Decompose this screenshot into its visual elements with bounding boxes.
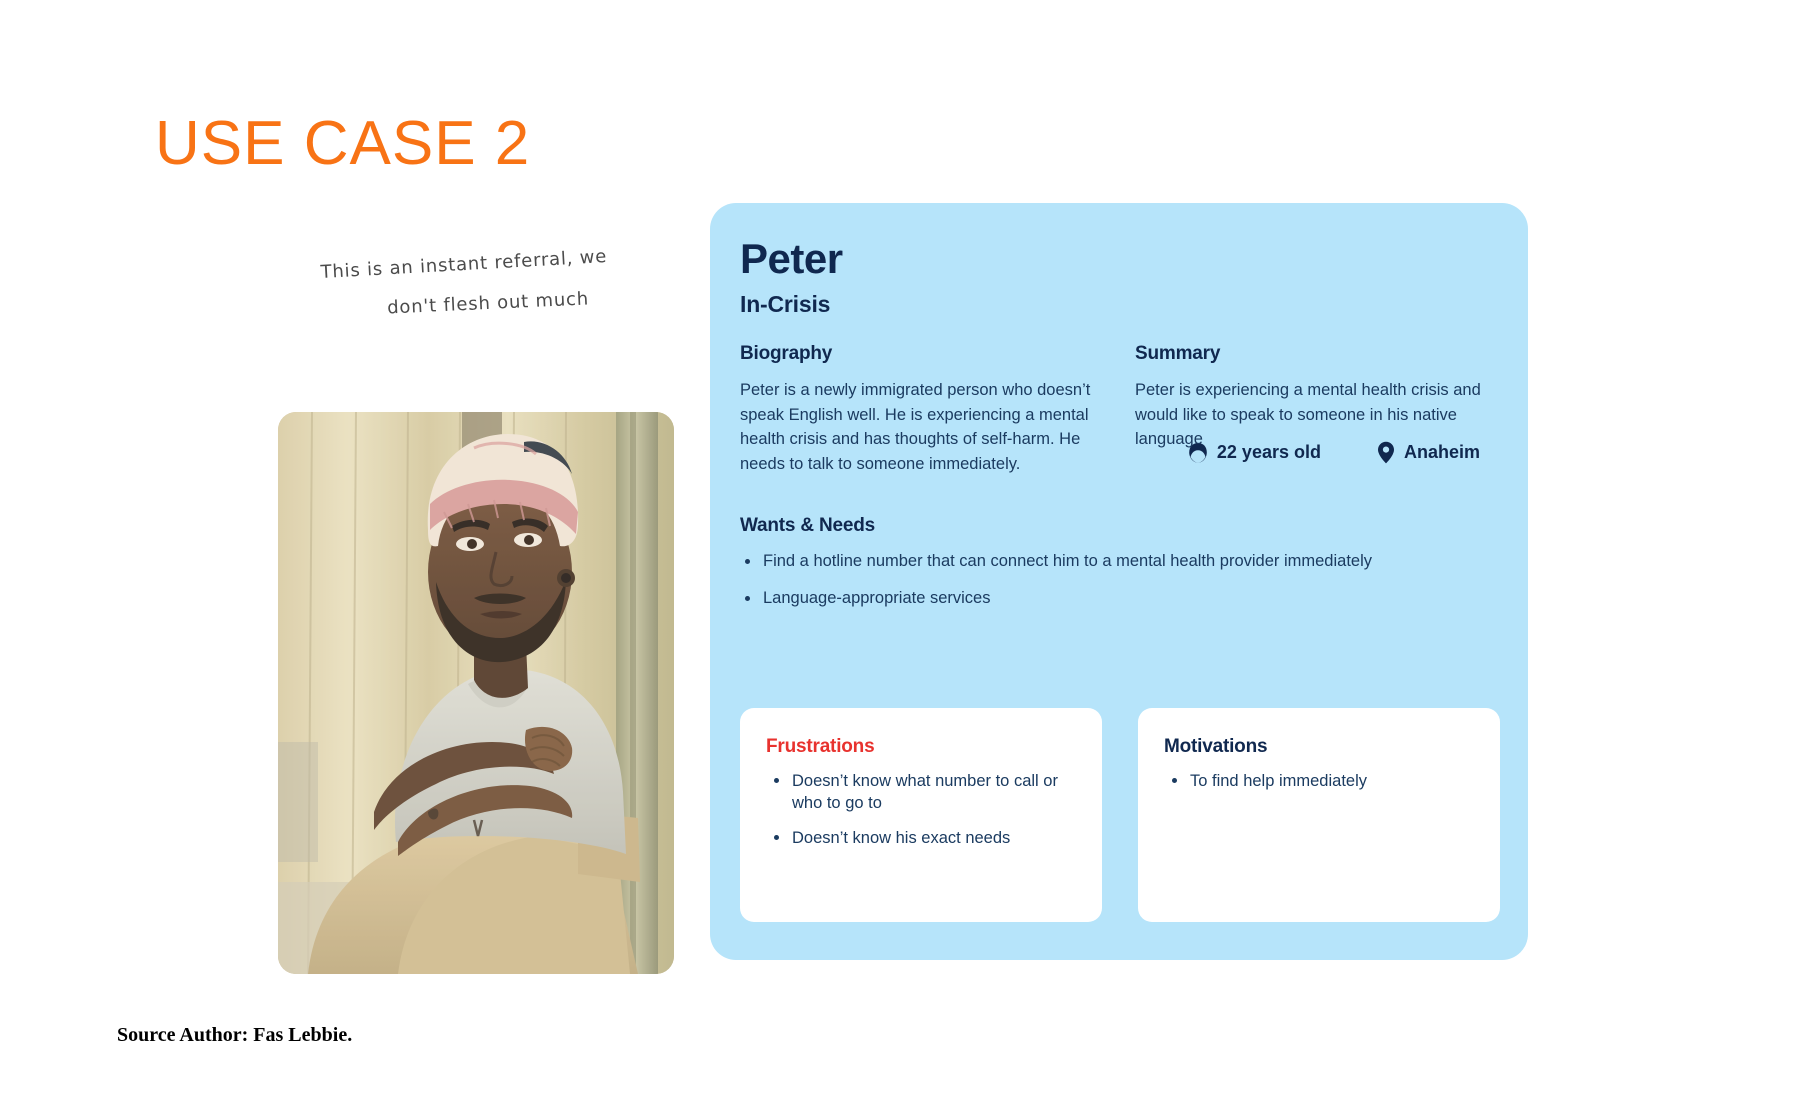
source-author: Source Author: Fas Lebbie. (117, 1024, 352, 1047)
persona-header: Peter In-Crisis (740, 235, 1498, 318)
motivations-list: To find help immediately (1164, 770, 1474, 792)
summary-section: Summary Peter is experiencing a mental h… (1135, 343, 1495, 452)
summary-title: Summary (1135, 343, 1495, 365)
motivations-title: Motivations (1164, 736, 1474, 758)
list-item: Doesn’t know what number to call or who … (766, 770, 1076, 814)
list-item: Doesn’t know his exact needs (766, 827, 1076, 849)
page-title: USE CASE 2 (155, 108, 530, 179)
persona-role: In-Crisis (740, 291, 1498, 318)
persona-name: Peter (740, 235, 1498, 283)
list-item: Find a hotline number that can connect h… (740, 550, 1500, 573)
annotation-line-2: don't flesh out much (322, 277, 653, 332)
frustrations-title: Frustrations (766, 736, 1076, 758)
wants-needs-title: Wants & Needs (740, 515, 1500, 537)
biography-section: Biography Peter is a newly immigrated pe… (740, 343, 1100, 476)
biography-body: Peter is a newly immigrated person who d… (740, 378, 1100, 476)
annotation-line-1: This is an instant referral, we (320, 246, 608, 283)
frustrations-card: Frustrations Doesn’t know what number to… (740, 708, 1102, 922)
persona-photo (278, 412, 674, 974)
persona-subcards: Frustrations Doesn’t know what number to… (740, 708, 1500, 922)
list-item: Language-appropriate services (740, 587, 1500, 610)
motivations-card: Motivations To find help immediately (1138, 708, 1500, 922)
persona-photo-illustration (278, 412, 674, 974)
list-item: To find help immediately (1164, 770, 1474, 792)
wants-needs-section: Wants & Needs Find a hotline number that… (740, 515, 1500, 624)
frustrations-list: Doesn’t know what number to call or who … (766, 770, 1076, 849)
handwritten-annotation: This is an instant referral, we don't fl… (298, 236, 632, 334)
summary-body: Peter is experiencing a mental health cr… (1135, 378, 1495, 452)
biography-title: Biography (740, 343, 1100, 365)
wants-needs-list: Find a hotline number that can connect h… (740, 550, 1500, 610)
persona-card: Peter In-Crisis 22 years old Anaheim B (710, 203, 1528, 960)
